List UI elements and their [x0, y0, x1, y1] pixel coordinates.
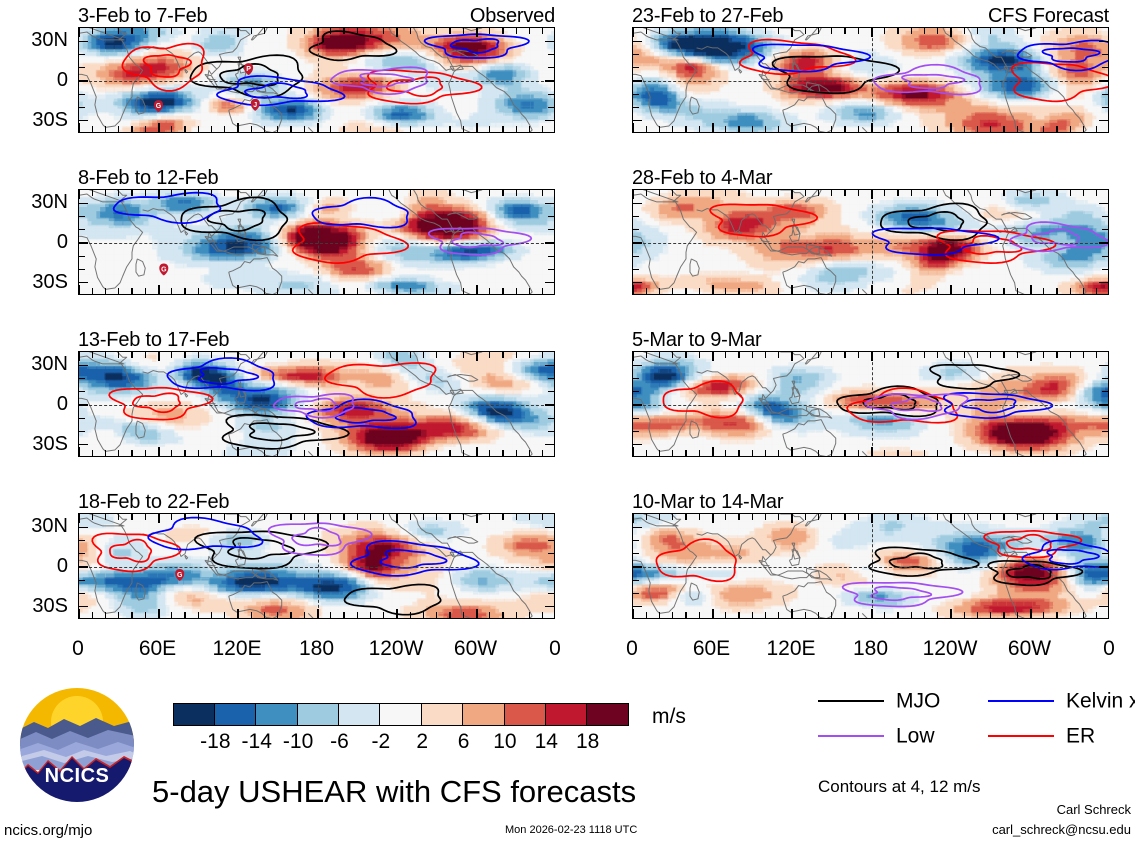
- axis-tick-top: [105, 28, 106, 34]
- axis-tick-top: [131, 28, 132, 34]
- colorbar-swatch: [214, 703, 257, 726]
- x-axis-label: 120E: [766, 638, 815, 659]
- axis-tick-bottom: [778, 288, 779, 294]
- axis-tick-bottom: [950, 609, 952, 618]
- axis-tick-top: [317, 190, 319, 199]
- x-axis-label: 60W: [1008, 638, 1051, 659]
- axis-tick-bottom: [489, 126, 490, 132]
- axis-tick-top: [937, 190, 938, 196]
- axis-tick-bottom: [449, 126, 450, 132]
- axis-tick-bottom: [699, 450, 700, 456]
- axis-tick-bottom: [791, 123, 793, 132]
- axis-tick-bottom: [171, 612, 172, 618]
- axis-tick-bottom: [805, 126, 806, 132]
- map-panel-3[interactable]: [78, 351, 555, 457]
- axis-tick-top: [317, 28, 319, 37]
- axis-tick-top: [738, 28, 739, 34]
- axis-tick-top: [211, 514, 212, 520]
- axis-tick-top: [343, 352, 344, 358]
- axis-tick-top: [304, 28, 305, 34]
- map-panel-1[interactable]: [78, 27, 555, 133]
- axis-tick-bottom: [1096, 450, 1097, 456]
- map-canvas-wrap: [79, 352, 554, 456]
- axis-tick-bottom: [977, 288, 978, 294]
- axis-tick-left: [79, 444, 88, 445]
- axis-tick-bottom: [131, 450, 132, 456]
- axis-tick-bottom: [251, 450, 252, 456]
- axis-tick-right: [1102, 378, 1108, 379]
- axis-tick-top: [436, 352, 437, 358]
- main-title: 5-day USHEAR with CFS forecasts: [152, 775, 636, 809]
- dateline-guide: [318, 514, 319, 618]
- axis-tick-bottom: [884, 288, 885, 294]
- axis-tick-top: [211, 190, 212, 196]
- axis-tick-bottom: [738, 612, 739, 618]
- axis-tick-top: [964, 28, 965, 34]
- axis-tick-top: [264, 514, 265, 520]
- map-panel-7[interactable]: [632, 351, 1109, 457]
- colorbar-tick-label: 18: [576, 731, 599, 752]
- x-axis-label: 120W: [923, 638, 978, 659]
- axis-tick-right: [548, 54, 554, 55]
- axis-tick-top: [844, 28, 845, 34]
- axis-tick-right: [548, 256, 554, 257]
- axis-tick-top: [911, 514, 912, 520]
- axis-tick-bottom: [699, 126, 700, 132]
- axis-tick-top: [184, 514, 185, 520]
- legend-item-kelvin-x2: Kelvin x2: [988, 688, 1135, 714]
- axis-tick-left: [633, 553, 639, 554]
- axis-tick-top: [712, 352, 714, 361]
- axis-tick-top: [396, 352, 398, 361]
- axis-tick-bottom: [1017, 450, 1018, 456]
- axis-tick-right: [1102, 593, 1108, 594]
- axis-tick-bottom: [78, 447, 80, 456]
- axis-tick-bottom: [317, 285, 319, 294]
- axis-tick-bottom: [937, 612, 938, 618]
- axis-tick-bottom: [304, 612, 305, 618]
- axis-tick-top: [317, 352, 319, 361]
- axis-tick-bottom: [343, 450, 344, 456]
- axis-tick-top: [659, 28, 660, 34]
- x-axis-label: 0: [1103, 638, 1115, 659]
- colorbar: [174, 703, 629, 726]
- axis-tick-right: [545, 282, 554, 283]
- axis-tick-top: [805, 28, 806, 34]
- axis-tick-left: [633, 229, 639, 230]
- axis-tick-bottom: [92, 450, 93, 456]
- axis-tick-bottom: [78, 285, 80, 294]
- axis-tick-top: [977, 28, 978, 34]
- axis-tick-bottom: [752, 612, 753, 618]
- legend-label: ER: [1066, 726, 1095, 747]
- axis-tick-top: [632, 190, 634, 199]
- axis-tick-top: [937, 352, 938, 358]
- axis-tick-bottom: [725, 450, 726, 456]
- axis-tick-left: [79, 431, 85, 432]
- axis-tick-top: [277, 28, 278, 34]
- axis-tick-bottom: [1030, 609, 1032, 618]
- axis-tick-top: [105, 514, 106, 520]
- axis-tick-top: [516, 28, 517, 34]
- axis-tick-bottom: [357, 450, 358, 456]
- axis-tick-right: [1099, 41, 1108, 42]
- column-header: Observed: [470, 5, 555, 27]
- axis-tick-bottom: [145, 126, 146, 132]
- axis-tick-top: [752, 514, 753, 520]
- axis-tick-top: [977, 190, 978, 196]
- axis-tick-top: [343, 514, 344, 520]
- axis-tick-top: [924, 514, 925, 520]
- axis-tick-bottom: [1017, 126, 1018, 132]
- x-axis-label: 120W: [369, 638, 424, 659]
- dateline-guide: [872, 190, 873, 294]
- author-name: Carl Schreck: [831, 802, 1131, 818]
- axis-tick-top: [290, 190, 291, 196]
- axis-tick-bottom: [950, 447, 952, 456]
- axis-tick-top: [646, 514, 647, 520]
- axis-tick-bottom: [1030, 123, 1032, 132]
- x-axis-label: 0: [72, 638, 84, 659]
- colorbar-swatch: [421, 703, 464, 726]
- axis-tick-top: [1083, 352, 1084, 358]
- axis-tick-top: [171, 28, 172, 34]
- axis-tick-bottom: [118, 288, 119, 294]
- axis-tick-top: [330, 190, 331, 196]
- axis-tick-bottom: [476, 285, 478, 294]
- axis-tick-bottom: [277, 288, 278, 294]
- axis-tick-top: [489, 514, 490, 520]
- axis-tick-right: [1102, 391, 1108, 392]
- axis-tick-bottom: [884, 450, 885, 456]
- axis-tick-top: [357, 190, 358, 196]
- axis-tick-bottom: [330, 450, 331, 456]
- axis-tick-bottom: [529, 126, 530, 132]
- axis-tick-top: [290, 514, 291, 520]
- axis-tick-top: [871, 352, 873, 361]
- axis-tick-bottom: [158, 123, 160, 132]
- axis-tick-bottom: [237, 123, 239, 132]
- axis-tick-top: [370, 352, 371, 358]
- axis-tick-bottom: [158, 447, 160, 456]
- axis-tick-left: [633, 391, 639, 392]
- axis-tick-top: [831, 352, 832, 358]
- axis-tick-bottom: [1070, 450, 1071, 456]
- axis-tick-top: [277, 190, 278, 196]
- axis-tick-top: [237, 190, 239, 199]
- axis-tick-bottom: [897, 450, 898, 456]
- axis-tick-bottom: [317, 447, 319, 456]
- axis-tick-top: [78, 190, 80, 199]
- axis-tick-top: [542, 28, 543, 34]
- axis-tick-top: [436, 28, 437, 34]
- colorbar-tick-label: 14: [535, 731, 558, 752]
- colorbar-tick-label: -6: [330, 731, 349, 752]
- axis-tick-top: [529, 352, 530, 358]
- axis-tick-bottom: [171, 450, 172, 456]
- axis-tick-top: [778, 514, 779, 520]
- axis-tick-left: [79, 378, 85, 379]
- axis-tick-bottom: [1070, 288, 1071, 294]
- axis-tick-top: [145, 352, 146, 358]
- axis-tick-left: [79, 540, 85, 541]
- axis-tick-right: [548, 431, 554, 432]
- axis-tick-bottom: [502, 126, 503, 132]
- axis-tick-right: [1102, 553, 1108, 554]
- axis-tick-top: [449, 352, 450, 358]
- axis-tick-left: [79, 391, 85, 392]
- axis-tick-bottom: [105, 288, 106, 294]
- axis-tick-left: [633, 242, 642, 243]
- axis-tick-top: [1096, 190, 1097, 196]
- axis-tick-bottom: [1030, 285, 1032, 294]
- axis-tick-left: [79, 216, 85, 217]
- axis-tick-top: [712, 28, 714, 37]
- axis-tick-top: [224, 352, 225, 358]
- axis-tick-top: [290, 352, 291, 358]
- axis-tick-top: [778, 28, 779, 34]
- map-panel-4[interactable]: [78, 513, 555, 619]
- axis-tick-bottom: [449, 450, 450, 456]
- axis-tick-right: [548, 94, 554, 95]
- axis-tick-right: [1102, 418, 1108, 419]
- axis-tick-bottom: [330, 612, 331, 618]
- axis-tick-top: [516, 190, 517, 196]
- map-panel-5[interactable]: [632, 27, 1109, 133]
- panel-title: 3-Feb to 7-Feb: [78, 5, 208, 27]
- axis-tick-bottom: [211, 612, 212, 618]
- panel-title: 13-Feb to 17-Feb: [78, 329, 229, 351]
- axis-tick-top: [897, 190, 898, 196]
- axis-tick-bottom: [370, 126, 371, 132]
- colorbar-tick-label: -2: [371, 731, 390, 752]
- axis-tick-bottom: [871, 447, 873, 456]
- axis-tick-top: [489, 28, 490, 34]
- axis-tick-bottom: [712, 123, 714, 132]
- axis-tick-top: [529, 28, 530, 34]
- axis-tick-bottom: [145, 612, 146, 618]
- axis-tick-top: [423, 190, 424, 196]
- colorbar-tick-label: 2: [416, 731, 428, 752]
- axis-tick-bottom: [752, 126, 753, 132]
- axis-tick-top: [1096, 352, 1097, 358]
- axis-tick-bottom: [476, 447, 478, 456]
- equator-guide: [79, 243, 554, 244]
- axis-tick-top: [224, 190, 225, 196]
- panel-3: 13-Feb to 17-Feb: [78, 329, 555, 351]
- axis-tick-bottom: [264, 126, 265, 132]
- axis-tick-bottom: [290, 126, 291, 132]
- axis-tick-bottom: [659, 126, 660, 132]
- axis-tick-bottom: [911, 612, 912, 618]
- axis-tick-bottom: [370, 612, 371, 618]
- axis-tick-left: [79, 256, 85, 257]
- axis-tick-top: [831, 514, 832, 520]
- axis-tick-left: [633, 54, 639, 55]
- axis-tick-left: [633, 120, 642, 121]
- axis-tick-top: [357, 28, 358, 34]
- axis-tick-bottom: [317, 609, 319, 618]
- axis-tick-top: [158, 352, 160, 361]
- axis-tick-bottom: [317, 123, 319, 132]
- axis-tick-bottom: [131, 288, 132, 294]
- author-email[interactable]: carl_schreck@ncsu.edu: [831, 822, 1131, 838]
- axis-tick-top: [937, 28, 938, 34]
- axis-tick-top: [396, 514, 398, 523]
- axis-tick-top: [145, 190, 146, 196]
- map-panel-2[interactable]: [78, 189, 555, 295]
- axis-tick-top: [977, 352, 978, 358]
- axis-tick-top: [699, 352, 700, 358]
- axis-tick-bottom: [858, 612, 859, 618]
- axis-tick-bottom: [476, 609, 478, 618]
- colorbar-tick-label: 10: [493, 731, 516, 752]
- map-panel-6[interactable]: [632, 189, 1109, 295]
- axis-tick-right: [548, 540, 554, 541]
- axis-tick-left: [633, 580, 639, 581]
- axis-tick-right: [548, 553, 554, 554]
- axis-tick-left: [633, 269, 639, 270]
- axis-tick-right: [548, 107, 554, 108]
- axis-tick-bottom: [502, 612, 503, 618]
- axis-tick-top: [659, 352, 660, 358]
- axis-tick-bottom: [529, 450, 530, 456]
- map-panel-8[interactable]: [632, 513, 1109, 619]
- axis-tick-top: [725, 514, 726, 520]
- axis-tick-bottom: [105, 126, 106, 132]
- axis-tick-bottom: [290, 288, 291, 294]
- axis-tick-bottom: [423, 288, 424, 294]
- axis-tick-top: [171, 352, 172, 358]
- axis-tick-bottom: [699, 288, 700, 294]
- axis-tick-bottom: [1096, 126, 1097, 132]
- axis-tick-left: [633, 431, 639, 432]
- axis-tick-left: [79, 282, 88, 283]
- axis-tick-top: [884, 514, 885, 520]
- axis-tick-bottom: [357, 612, 358, 618]
- site-url: ncics.org/mjo: [4, 822, 92, 839]
- axis-tick-bottom: [977, 450, 978, 456]
- axis-tick-bottom: [330, 288, 331, 294]
- axis-tick-top: [436, 514, 437, 520]
- axis-tick-bottom: [237, 285, 239, 294]
- axis-tick-bottom: [964, 126, 965, 132]
- axis-tick-top: [410, 28, 411, 34]
- axis-tick-top: [659, 514, 660, 520]
- axis-tick-bottom: [463, 612, 464, 618]
- axis-tick-bottom: [224, 126, 225, 132]
- axis-tick-top: [463, 28, 464, 34]
- axis-tick-top: [659, 190, 660, 196]
- axis-tick-bottom: [977, 126, 978, 132]
- axis-tick-top: [871, 514, 873, 523]
- axis-tick-bottom: [383, 288, 384, 294]
- axis-tick-top: [476, 190, 478, 199]
- axis-tick-top: [990, 514, 991, 520]
- axis-tick-bottom: [516, 450, 517, 456]
- axis-tick-left: [633, 203, 642, 204]
- axis-tick-top: [542, 352, 543, 358]
- x-axis-label: 60E: [139, 638, 176, 659]
- axis-tick-bottom: [1017, 288, 1018, 294]
- axis-tick-bottom: [304, 126, 305, 132]
- axis-tick-top: [738, 352, 739, 358]
- axis-tick-bottom: [410, 450, 411, 456]
- dateline-guide: [872, 352, 873, 456]
- axis-tick-top: [370, 514, 371, 520]
- legend-label: Kelvin x2: [1066, 691, 1135, 712]
- axis-tick-top: [92, 190, 93, 196]
- axis-tick-right: [1099, 566, 1108, 567]
- axis-tick-top: [145, 28, 146, 34]
- axis-tick-bottom: [516, 288, 517, 294]
- axis-tick-left: [79, 242, 88, 243]
- axis-tick-top: [1083, 514, 1084, 520]
- axis-tick-bottom: [92, 612, 93, 618]
- axis-tick-bottom: [1003, 450, 1004, 456]
- axis-tick-top: [1043, 352, 1044, 358]
- axis-tick-bottom: [964, 288, 965, 294]
- axis-tick-top: [924, 190, 925, 196]
- axis-tick-bottom: [632, 285, 634, 294]
- axis-tick-left: [79, 203, 88, 204]
- axis-tick-top: [396, 28, 398, 37]
- axis-tick-top: [198, 28, 199, 34]
- axis-tick-bottom: [752, 450, 753, 456]
- axis-tick-bottom: [672, 612, 673, 618]
- axis-tick-bottom: [871, 609, 873, 618]
- axis-tick-left: [79, 269, 85, 270]
- axis-tick-left: [79, 229, 85, 230]
- axis-tick-bottom: [383, 612, 384, 618]
- axis-tick-bottom: [659, 288, 660, 294]
- axis-tick-top: [818, 352, 819, 358]
- axis-tick-bottom: [489, 450, 490, 456]
- axis-tick-top: [264, 28, 265, 34]
- axis-tick-bottom: [672, 450, 673, 456]
- axis-tick-right: [1099, 527, 1108, 528]
- axis-tick-bottom: [738, 288, 739, 294]
- axis-tick-bottom: [1003, 288, 1004, 294]
- y-axis-label: 30S: [0, 434, 68, 454]
- axis-tick-right: [548, 418, 554, 419]
- axis-tick-bottom: [924, 450, 925, 456]
- axis-tick-left: [79, 107, 85, 108]
- axis-tick-top: [449, 514, 450, 520]
- axis-tick-left: [633, 566, 642, 567]
- axis-tick-top: [304, 514, 305, 520]
- axis-tick-bottom: [436, 450, 437, 456]
- axis-tick-bottom: [871, 285, 873, 294]
- axis-tick-top: [542, 514, 543, 520]
- axis-tick-bottom: [1070, 612, 1071, 618]
- axis-tick-top: [685, 514, 686, 520]
- y-axis-label: 0: [0, 70, 68, 90]
- axis-tick-top: [449, 190, 450, 196]
- axis-tick-top: [1083, 28, 1084, 34]
- y-axis-label: 30S: [0, 272, 68, 292]
- axis-tick-top: [92, 352, 93, 358]
- panel-title: 23-Feb to 27-Feb: [632, 5, 783, 27]
- axis-tick-bottom: [502, 288, 503, 294]
- axis-tick-top: [685, 352, 686, 358]
- axis-tick-bottom: [791, 609, 793, 618]
- axis-tick-top: [251, 352, 252, 358]
- axis-tick-top: [118, 28, 119, 34]
- axis-tick-top: [78, 28, 80, 37]
- axis-tick-top: [264, 190, 265, 196]
- x-axis-label: 60E: [693, 638, 730, 659]
